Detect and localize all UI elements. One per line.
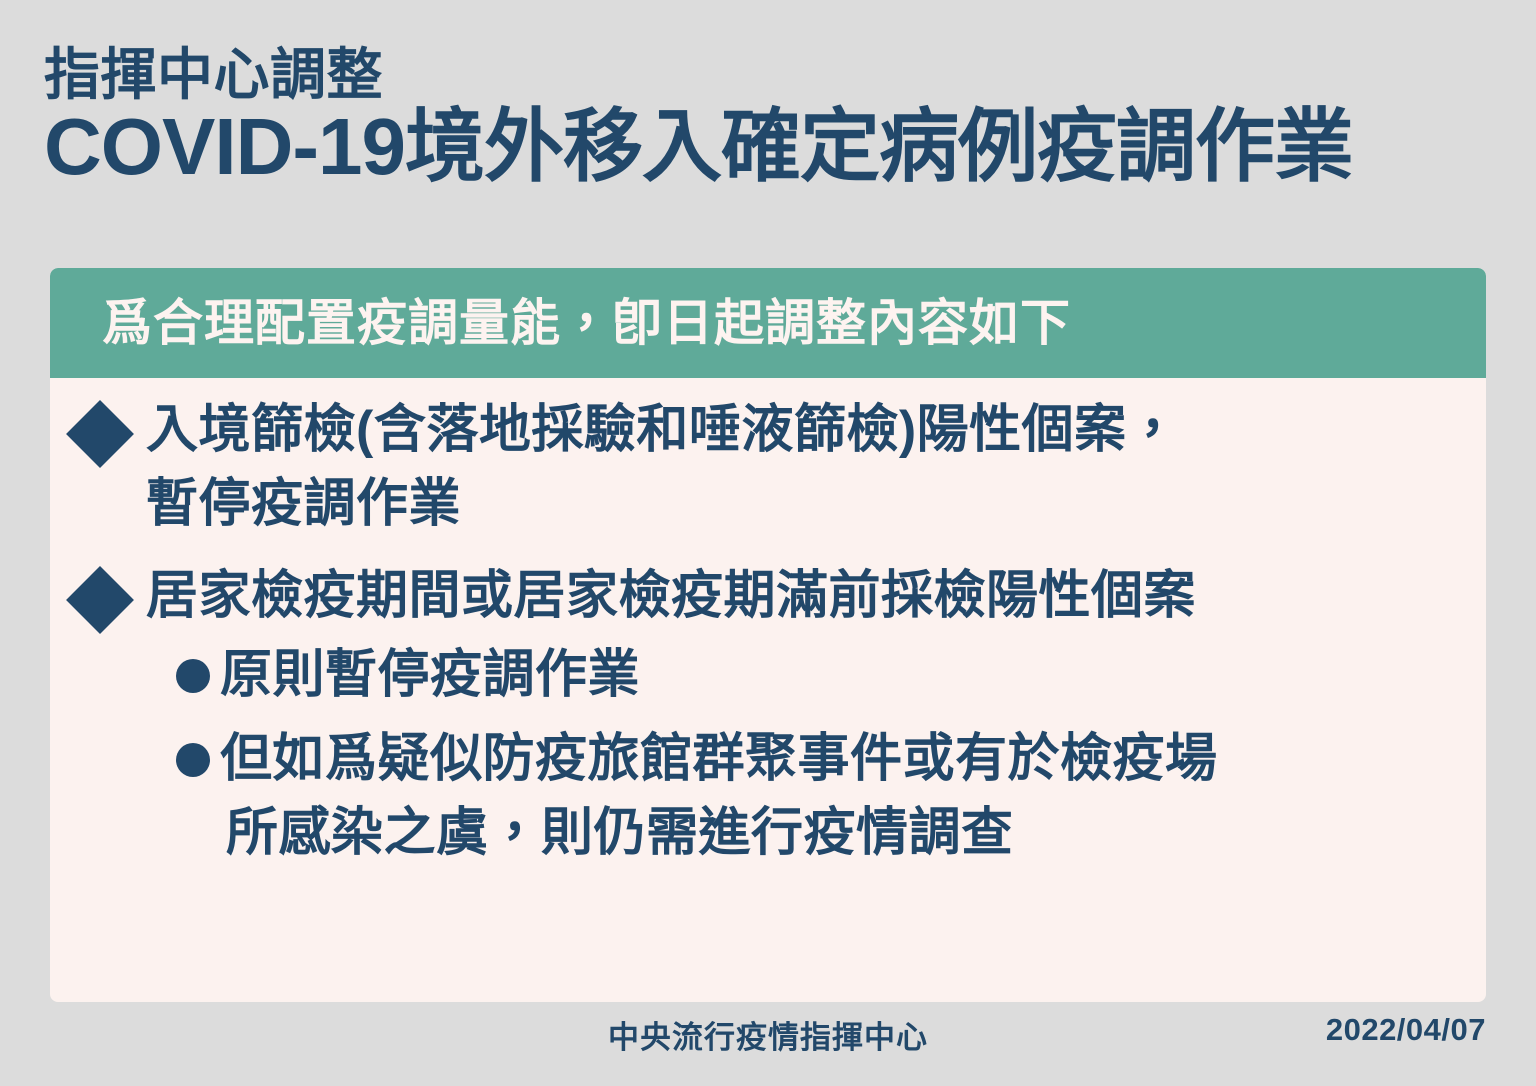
bullet-text: 入境篩檢(含落地採驗和唾液篩檢)陽性個案， 暫停疫調作業 (146, 394, 1179, 542)
list-item: 原則暫停疫調作業 (50, 639, 1486, 713)
bullet-text: 居家檢疫期間或居家檢疫期滿前採檢陽性個案 (146, 560, 1196, 634)
poster-root: 指揮中心調整 COVID-19境外移入確定病例疫調作業 爲合理配置疫調量能，卽日… (0, 0, 1536, 1086)
dot-bullet-icon (176, 743, 210, 777)
content-card: 爲合理配置疫調量能，卽日起調整內容如下 入境篩檢(含落地採驗和唾液篩檢)陽性個案… (50, 268, 1486, 1002)
diamond-bullet-icon (66, 400, 134, 468)
bullet-text: 但如爲疑似防疫旅館群聚事件或有於檢疫場 所感染之虞，則仍需進行疫情調查 (220, 723, 1218, 871)
footer-date: 2022/04/07 (1326, 1012, 1486, 1048)
page-title: COVID-19境外移入確定病例疫調作業 (44, 105, 1494, 190)
bullet-line-2: 所感染之虞，則仍需進行疫情調查 (220, 797, 1218, 871)
highlight-banner: 爲合理配置疫調量能，卽日起調整內容如下 (50, 268, 1486, 378)
bullet-list: 入境篩檢(含落地採驗和唾液篩檢)陽性個案， 暫停疫調作業 居家檢疫期間或居家檢疫… (50, 378, 1486, 871)
bullet-line-1: 入境篩檢(含落地採驗和唾液篩檢)陽性個案， (146, 401, 1179, 459)
bullet-line-1: 居家檢疫期間或居家檢疫期滿前採檢陽性個案 (146, 567, 1196, 625)
bullet-line-2: 暫停疫調作業 (146, 468, 1179, 542)
list-item: 入境篩檢(含落地採驗和唾液篩檢)陽性個案， 暫停疫調作業 (50, 394, 1486, 542)
bullet-text: 原則暫停疫調作業 (220, 639, 640, 713)
diamond-bullet-icon (66, 566, 134, 634)
footer-organization: 中央流行疫情指揮中心 (0, 1012, 1536, 1057)
list-item: 居家檢疫期間或居家檢疫期滿前採檢陽性個案 (50, 560, 1486, 634)
dot-bullet-icon (176, 659, 210, 693)
list-item: 但如爲疑似防疫旅館群聚事件或有於檢疫場 所感染之虞，則仍需進行疫情調查 (50, 723, 1486, 871)
header-eyebrow: 指揮中心調整 (44, 46, 1494, 103)
bullet-line-1: 但如爲疑似防疫旅館群聚事件或有於檢疫場 (220, 730, 1218, 788)
poster-footer: 中央流行疫情指揮中心 2022/04/07 (0, 1012, 1536, 1072)
bullet-line-1: 原則暫停疫調作業 (220, 646, 640, 704)
poster-header: 指揮中心調整 COVID-19境外移入確定病例疫調作業 (44, 46, 1494, 190)
banner-text: 爲合理配置疫調量能，卽日起調整內容如下 (50, 298, 1071, 348)
